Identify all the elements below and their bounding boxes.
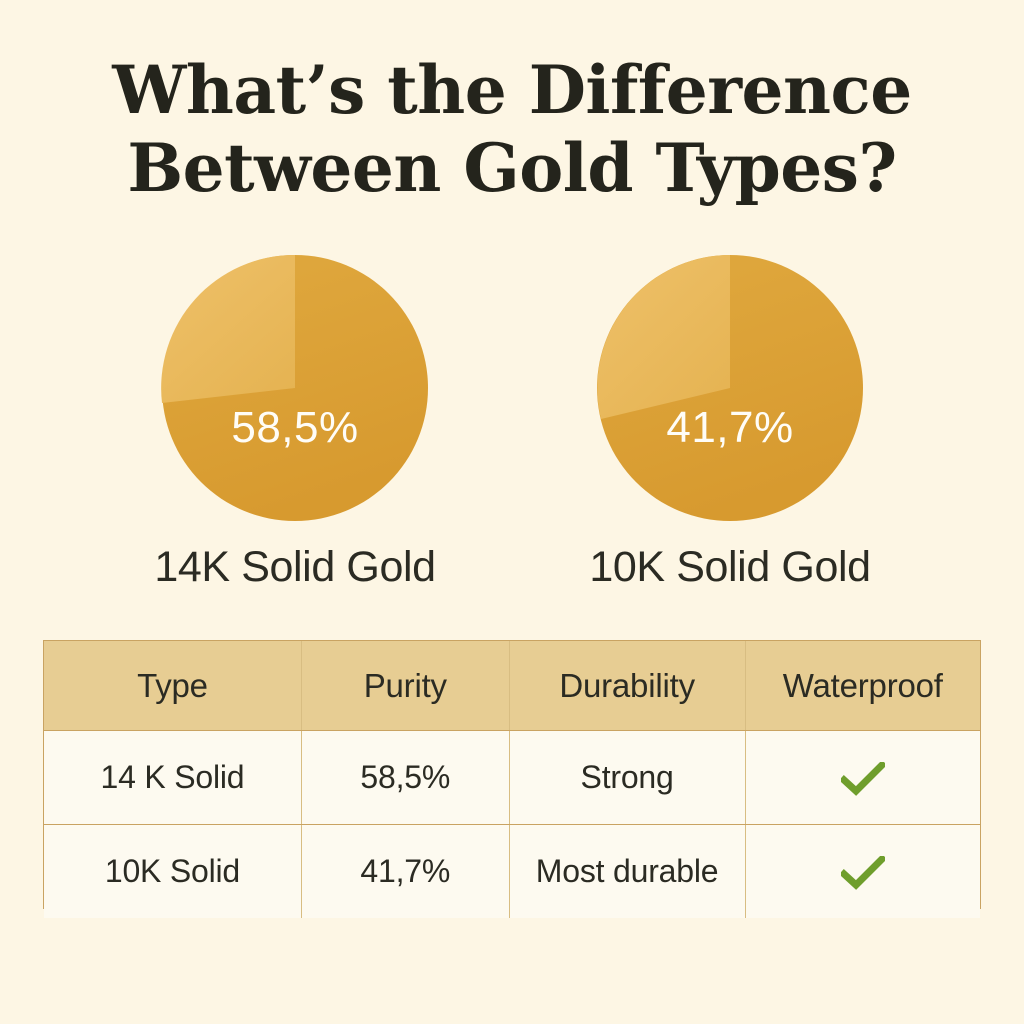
column-header-durability: Durability — [509, 641, 745, 731]
pie-chart-10k-value: 41,7% — [595, 403, 865, 453]
comparison-table: Type Purity Durability Waterproof 14 K S… — [43, 640, 981, 909]
checkmark-icon — [841, 762, 885, 796]
pie-chart-14k-graphic: 58,5% — [160, 253, 430, 523]
cell-type: 14 K Solid — [44, 731, 301, 825]
cell-durability: Most durable — [509, 825, 745, 919]
pie-chart-14k-caption: 14K Solid Gold — [105, 543, 485, 592]
checkmark-icon — [841, 856, 885, 890]
pie-chart-14k: 58,5% 14K Solid Gold — [145, 250, 445, 540]
cell-waterproof — [745, 731, 980, 825]
page-title-line-1: What’s the Difference — [0, 52, 1024, 130]
pie-chart-10k: 41,7% 10K Solid Gold — [580, 250, 880, 540]
pie-chart-10k-graphic: 41,7% — [595, 253, 865, 523]
pie-chart-group: 58,5% 14K Solid Gold — [0, 250, 1024, 540]
table-row: 14 K Solid 58,5% Strong — [44, 731, 980, 825]
cell-durability: Strong — [509, 731, 745, 825]
gold-types-infographic: What’s the Difference Between Gold Types… — [0, 0, 1024, 1024]
table-row: 10K Solid 41,7% Most durable — [44, 825, 980, 919]
column-header-type: Type — [44, 641, 301, 731]
cell-purity: 58,5% — [301, 731, 509, 825]
cell-waterproof — [745, 825, 980, 919]
cell-type: 10K Solid — [44, 825, 301, 919]
column-header-purity: Purity — [301, 641, 509, 731]
page-title: What’s the Difference Between Gold Types… — [0, 52, 1024, 208]
table-header-row: Type Purity Durability Waterproof — [44, 641, 980, 731]
pie-chart-10k-caption: 10K Solid Gold — [540, 543, 920, 592]
page-title-line-2: Between Gold Types? — [0, 130, 1024, 208]
cell-purity: 41,7% — [301, 825, 509, 919]
pie-chart-14k-value: 58,5% — [160, 403, 430, 453]
column-header-waterproof: Waterproof — [745, 641, 980, 731]
